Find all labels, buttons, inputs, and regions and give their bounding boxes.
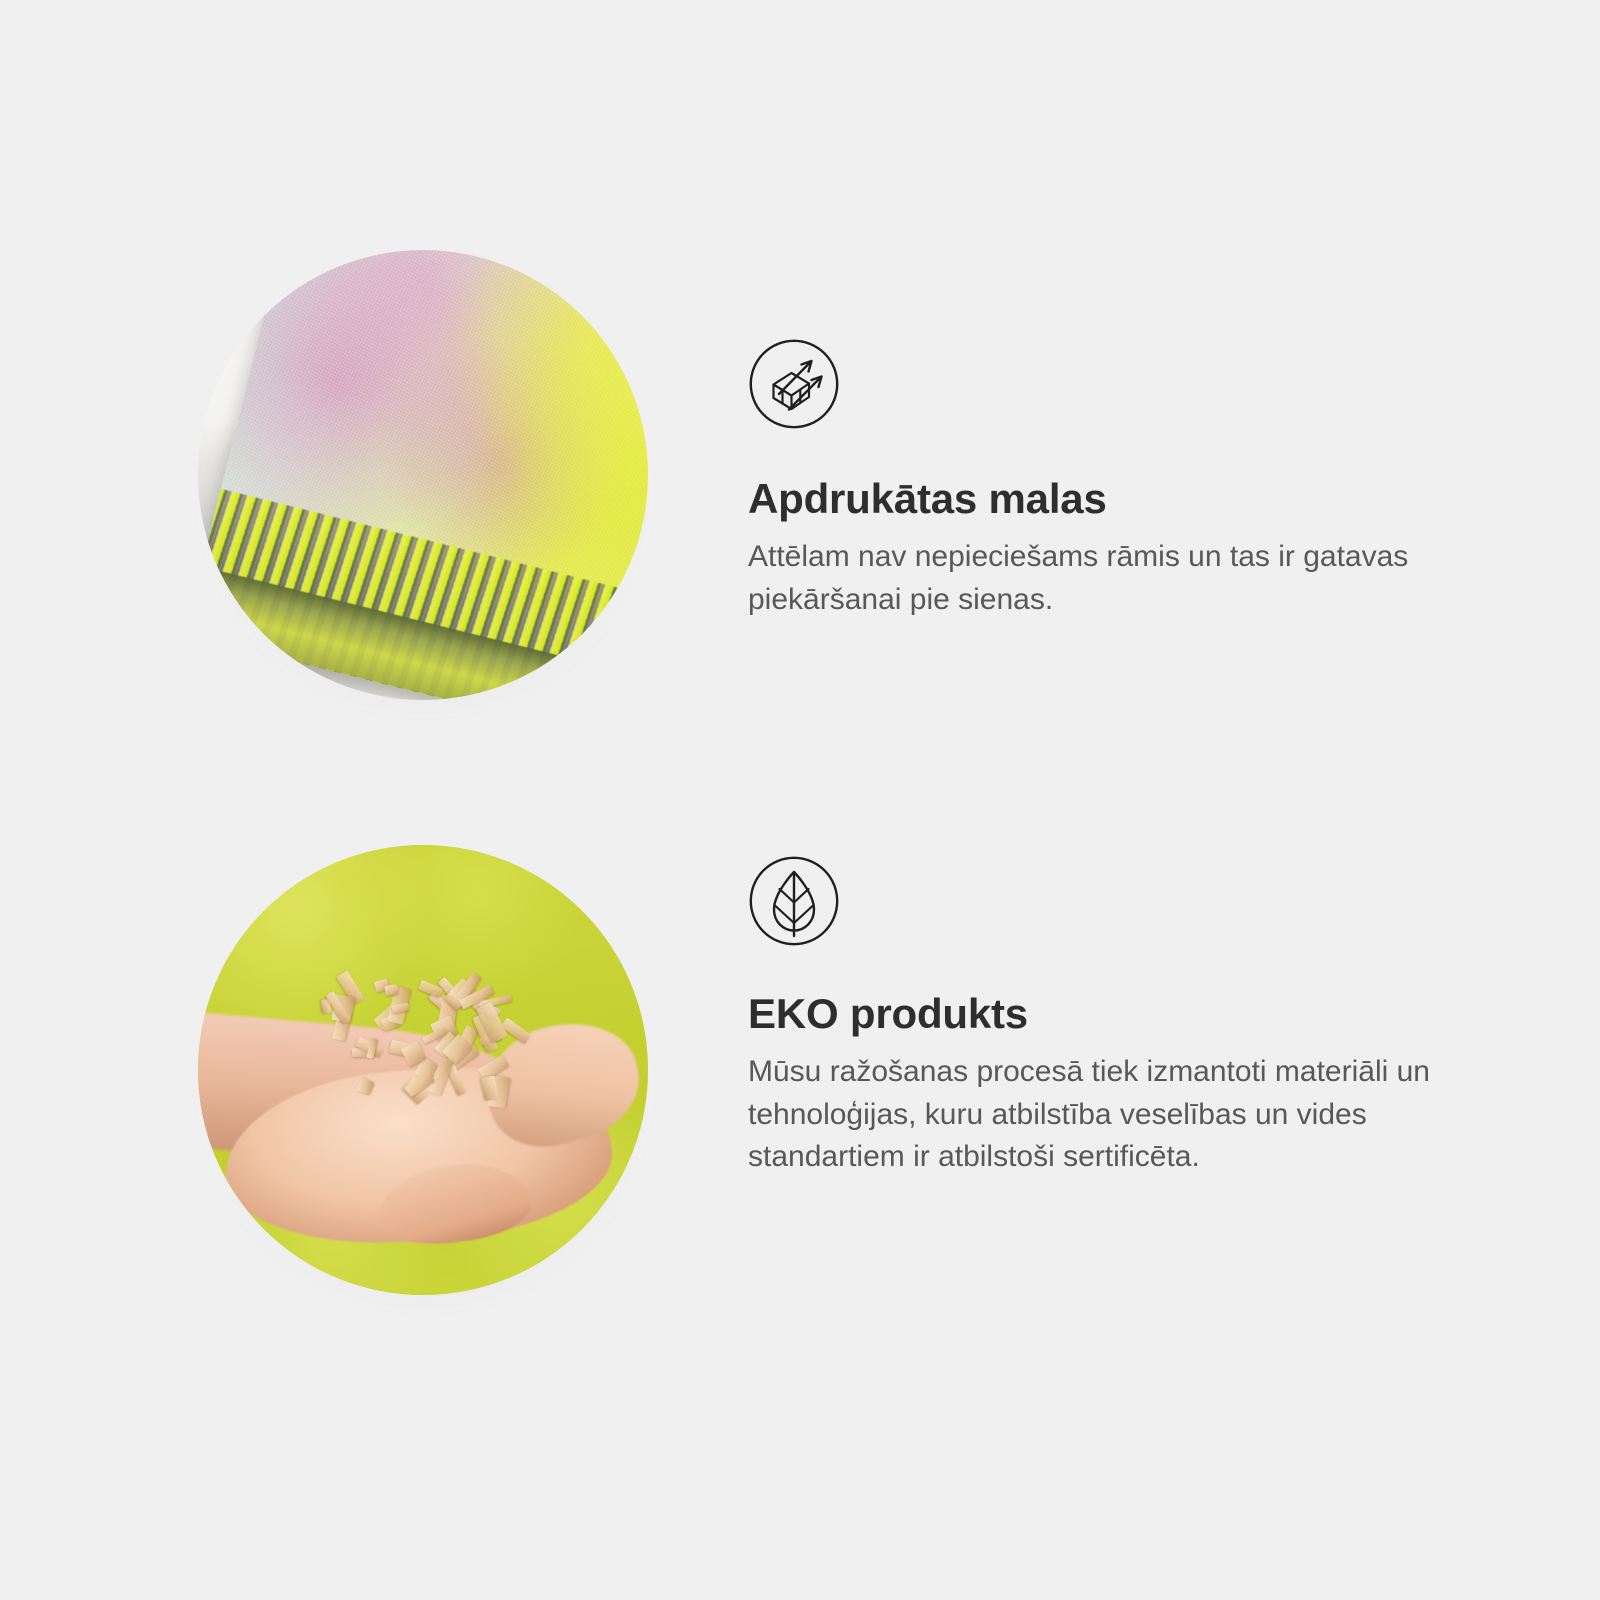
wood-chips-in-hands-photo [198,845,648,1295]
feature-title: Apdrukātas malas [748,476,1488,522]
canvas-corner-photo [198,250,648,700]
wood-chip [391,1003,408,1013]
feature-block-eco-product: EKO produkts Mūsu ražošanas procesā tiek… [0,845,1488,1295]
feature-highlights-page: Apdrukātas malas Attēlam nav nepieciešam… [0,0,1600,1600]
printed-edges-text-column: Apdrukātas malas Attēlam nav nepieciešam… [748,250,1488,621]
wood-chips-photo-wrapper [198,845,648,1295]
feature-description: Mūsu ražošanas procesā tiek izmantoti ma… [748,1051,1468,1179]
leaf-icon [748,855,840,947]
feature-title: EKO produkts [748,991,1488,1037]
canvas-corner-photo-wrapper [198,250,648,700]
eco-product-text-column: EKO produkts Mūsu ražošanas procesā tiek… [748,845,1488,1179]
feature-block-printed-edges: Apdrukātas malas Attēlam nav nepieciešam… [0,250,1488,700]
canvas-print-slab [198,250,648,700]
wood-chips-pile [315,980,567,1133]
wood-chip [356,1076,375,1095]
feature-description: Attēlam nav nepieciešams rāmis un tas ir… [748,536,1468,621]
wrapped-canvas-edges-icon [748,338,840,430]
